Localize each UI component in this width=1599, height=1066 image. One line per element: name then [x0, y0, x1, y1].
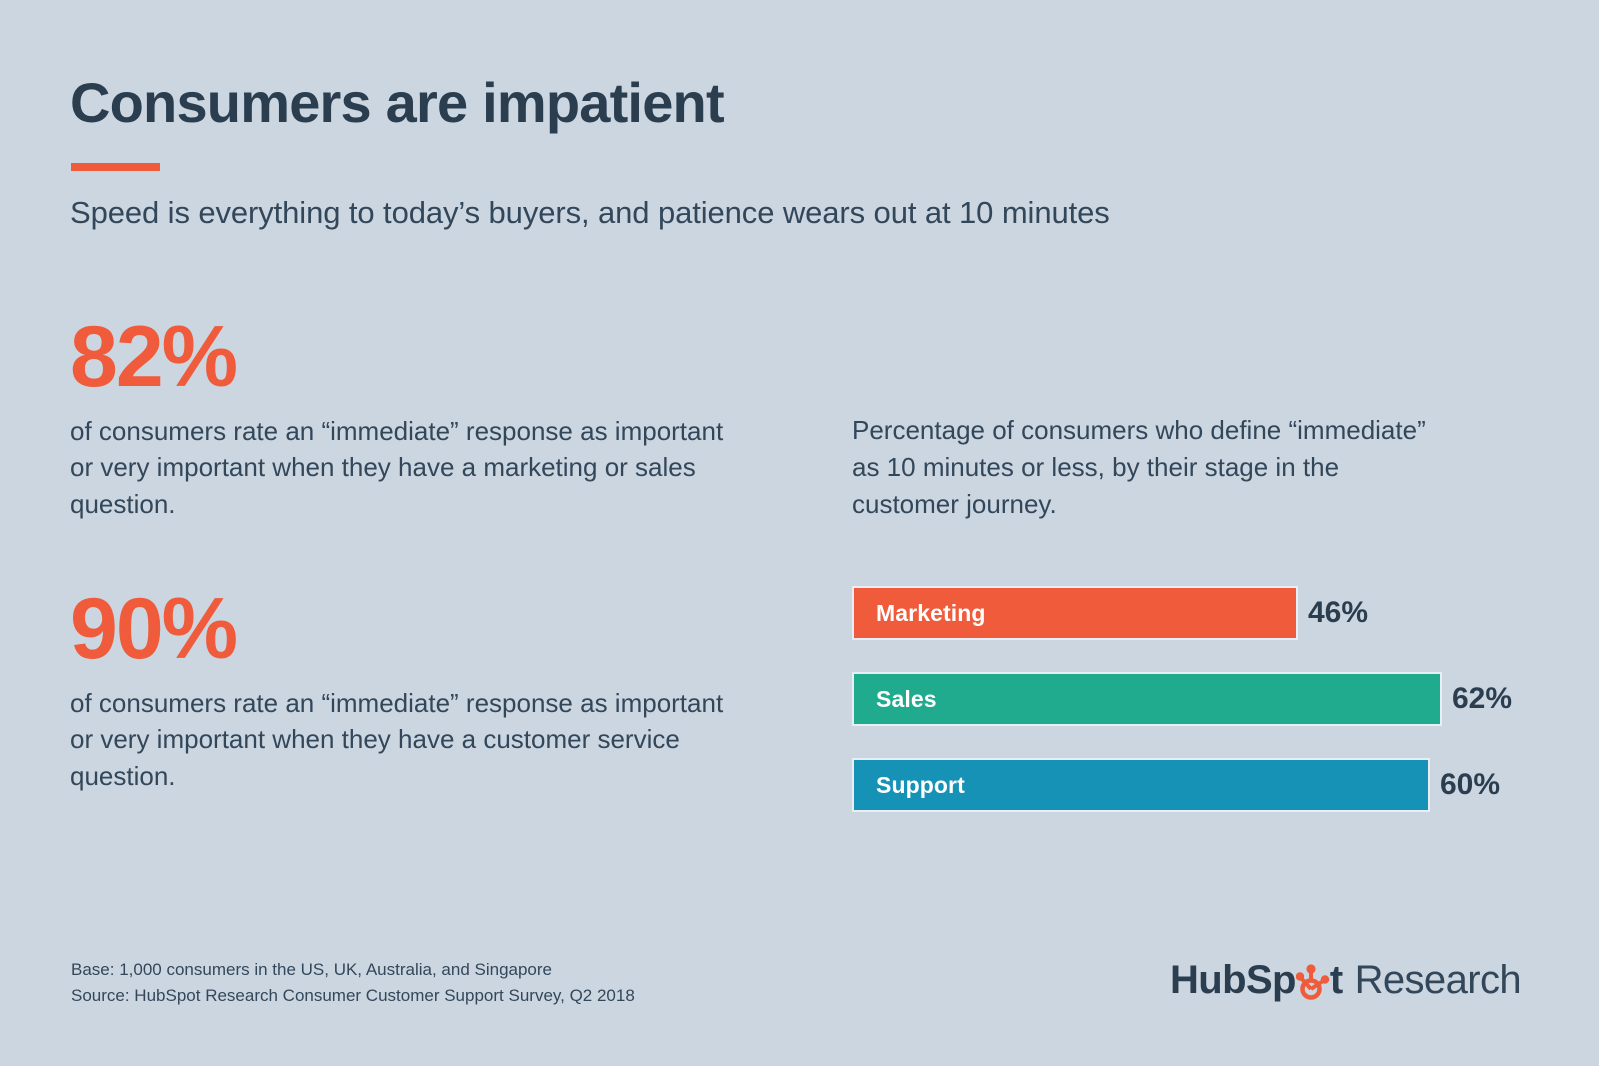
bar-value: 62%	[1452, 682, 1512, 716]
bar-row: Support 60%	[852, 758, 1512, 812]
page-title: Consumers are impatient	[70, 74, 724, 133]
bar-row: Sales 62%	[852, 672, 1512, 726]
bar-chart: Marketing 46% Sales 62% Support 60%	[852, 586, 1512, 812]
stat-description: of consumers rate an “immediate” respons…	[70, 413, 730, 524]
stat-block-customer-service: 90% of consumers rate an “immediate” res…	[70, 588, 730, 795]
bar-value: 60%	[1440, 768, 1500, 802]
bar-label: Sales	[876, 686, 937, 713]
hubspot-research-logo: HubSp tResearch	[1170, 958, 1521, 1003]
bar-label: Marketing	[876, 600, 986, 627]
bar-marketing: Marketing	[852, 586, 1298, 640]
title-accent-rule	[71, 163, 160, 171]
footer-source: Base: 1,000 consumers in the US, UK, Aus…	[71, 957, 635, 1010]
bar-label: Support	[876, 772, 965, 799]
infographic-canvas: Consumers are impatient Speed is everyth…	[0, 0, 1599, 1066]
bar-sales: Sales	[852, 672, 1442, 726]
stat-number: 82%	[70, 316, 730, 399]
hubspot-sprocket-icon	[1296, 961, 1330, 1001]
page-subtitle: Speed is everything to today’s buyers, a…	[70, 195, 1110, 231]
bar-value: 46%	[1308, 596, 1368, 630]
brand-research-text: Research	[1355, 958, 1521, 1003]
stat-description: of consumers rate an “immediate” respons…	[70, 685, 730, 796]
bar-support: Support	[852, 758, 1430, 812]
chart-title: Percentage of consumers who define “imme…	[852, 412, 1452, 523]
bar-row: Marketing 46%	[852, 586, 1512, 640]
footer-source-line: Source: HubSpot Research Consumer Custom…	[71, 983, 635, 1009]
stat-block-marketing-sales: 82% of consumers rate an “immediate” res…	[70, 316, 730, 523]
brand-hub-text: Hub	[1170, 958, 1246, 1003]
footer-base-line: Base: 1,000 consumers in the US, UK, Aus…	[71, 957, 635, 983]
brand-t-text: t	[1330, 958, 1343, 1003]
stat-number: 90%	[70, 588, 730, 671]
brand-sp-text: Sp	[1246, 958, 1296, 1003]
